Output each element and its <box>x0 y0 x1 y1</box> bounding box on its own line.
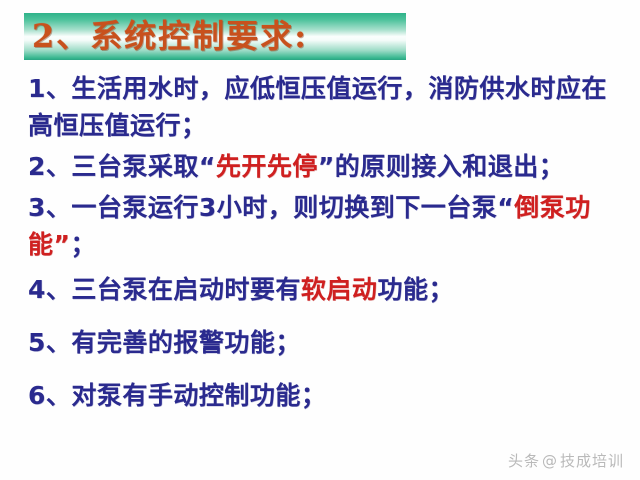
list-item-4-text-a: 三台泵在启动时要有 <box>71 275 301 304</box>
list-item-3-text-a: 一台泵运行3小时，则切换到下一台泵“ <box>71 193 514 222</box>
list-item-2-text-a: 三台泵采取“ <box>71 152 215 181</box>
list-item-1-text: 生活用水时，应低恒压值运行，消防供水时应在高恒压值运行； <box>28 74 607 140</box>
slide-canvas: 2、系统控制要求: 1、生活用水时，应低恒压值运行，消防供水时应在高恒压值运行；… <box>0 0 640 480</box>
watermark-account: 技成培训 <box>560 452 624 470</box>
list-item-4-number: 4、 <box>28 275 71 304</box>
requirements-list: 1、生活用水时，应低恒压值运行，消防供水时应在高恒压值运行； 2、三台泵采取“先… <box>0 70 640 414</box>
list-item-2: 2、三台泵采取“先开先停”的原则接入和退出； <box>0 148 640 185</box>
list-item-6: 6、对泵有手动控制功能； <box>0 377 640 414</box>
list-item-3-number: 3、 <box>28 193 71 222</box>
list-item-6-text: 对泵有手动控制功能； <box>71 381 326 410</box>
watermark-platform: 头条 <box>508 452 540 470</box>
watermark-at-symbol: @ <box>542 452 558 470</box>
list-item-3: 3、一台泵运行3小时，则切换到下一台泵“倒泵功能”； <box>0 189 640 263</box>
list-item-5: 5、有完善的报警功能； <box>0 324 640 361</box>
list-item-5-number: 5、 <box>28 328 71 357</box>
list-item-1: 1、生活用水时，应低恒压值运行，消防供水时应在高恒压值运行； <box>0 70 640 144</box>
list-item-6-number: 6、 <box>28 381 71 410</box>
list-item-4-highlight: 软启动 <box>301 275 378 304</box>
list-item-2-highlight: 先开先停 <box>216 152 318 181</box>
watermark: 头条@技成培训 <box>508 450 624 471</box>
list-item-4-text-b: 功能； <box>377 275 454 304</box>
list-item-1-number: 1、 <box>28 74 71 103</box>
page-title: 2、系统控制要求: <box>32 14 412 60</box>
list-item-2-text-b: ”的原则接入和退出； <box>318 152 564 181</box>
list-item-2-number: 2、 <box>28 152 71 181</box>
list-item-3-text-b: ； <box>70 230 96 259</box>
list-item-5-text: 有完善的报警功能； <box>71 328 301 357</box>
list-item-4: 4、三台泵在启动时要有软启动功能； <box>0 271 640 308</box>
